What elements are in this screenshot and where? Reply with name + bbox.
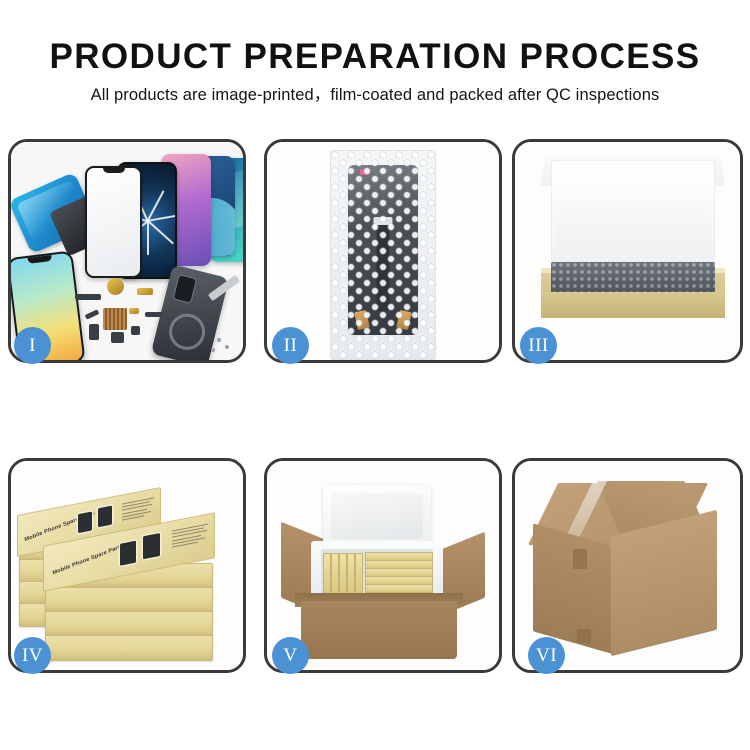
box-inner-wall <box>555 194 711 272</box>
carton-front <box>301 601 457 659</box>
step-badge-6: VI <box>528 637 565 674</box>
bubble-texture <box>331 151 435 359</box>
white-frame-glass <box>85 166 142 278</box>
speaker-part <box>75 294 101 300</box>
box-stack: Mobile Phone Spare Parts Mobile Phone Sp… <box>17 475 239 665</box>
flex-cable-part <box>137 288 153 295</box>
contact-pad-part <box>129 308 139 314</box>
step-4-image: Mobile Phone Spare Parts Mobile Phone Sp… <box>11 461 243 670</box>
camera-lens-part <box>107 278 124 295</box>
step-badge-4: IV <box>14 637 51 674</box>
carton-tab-upper <box>573 549 587 569</box>
step-badge-5: V <box>272 637 309 674</box>
process-step-grid: I II <box>0 0 750 750</box>
step-badge-3: III <box>520 327 557 364</box>
step-2-image <box>267 142 499 360</box>
foam-lid <box>323 485 431 547</box>
carton-right-face <box>611 510 717 656</box>
button-part <box>111 332 124 343</box>
box-tray-front <box>541 292 725 318</box>
step-panel-1 <box>8 139 246 363</box>
step-badge-1: I <box>14 327 51 364</box>
page-root: PRODUCT PREPARATION PROCESS All products… <box>0 0 750 750</box>
wrapped-part-in-box <box>551 262 715 296</box>
carton-tab-lower <box>577 629 591 643</box>
step-1-image <box>11 142 243 360</box>
antenna-part <box>145 312 163 317</box>
foam-cavity <box>321 549 433 597</box>
step-3-image <box>515 142 740 360</box>
box-label-text-front: Mobile Phone Spare Parts <box>52 544 123 577</box>
bubble-wrap-bag <box>330 150 436 360</box>
step-5-image <box>267 461 499 670</box>
step-badge-2: II <box>272 327 309 364</box>
chip-grid-part <box>103 308 127 330</box>
carton-left-face <box>533 523 615 655</box>
sim-tray-part <box>89 324 99 340</box>
vibrator-part <box>131 326 140 335</box>
